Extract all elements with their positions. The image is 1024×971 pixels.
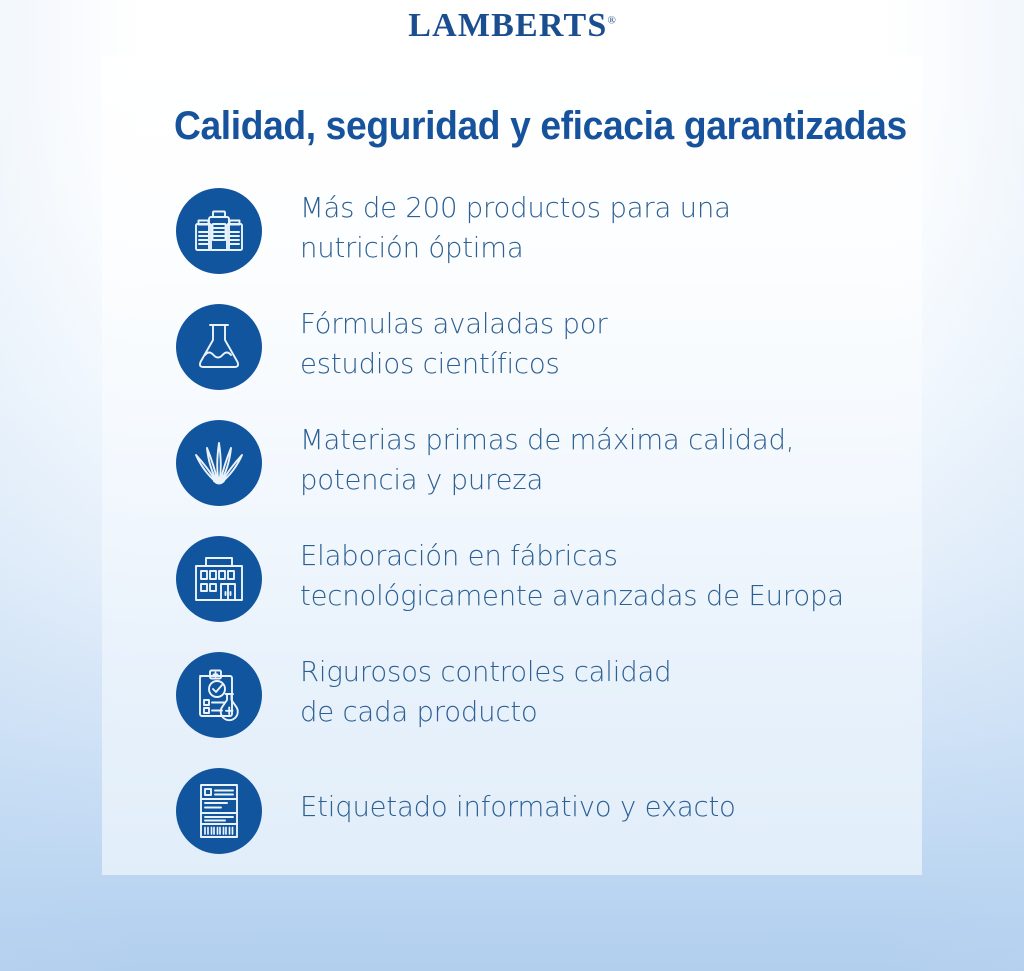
list-item-text: Fórmulas avaladas por estudios científic…: [262, 300, 936, 384]
list-item-text: Más de 200 productos para una nutrición …: [262, 184, 936, 268]
list-item-line-1: Fórmulas avaladas por: [300, 305, 936, 345]
list-item-line-1: Materias primas de máxima calidad,: [300, 421, 936, 461]
list-item-line-2: de cada producto: [300, 693, 936, 733]
list-item-text: Elaboración en fábricas tecnológicamente…: [262, 532, 936, 616]
infographic-canvas: LAMBERTS® Calidad, seguridad y eficacia …: [0, 0, 1024, 971]
list-item-line-2: tecnológicamente avanzadas de Europa: [300, 577, 936, 617]
list-item: Fórmulas avaladas por estudios científic…: [176, 300, 936, 416]
list-item-line-1: Rigurosos controles calidad: [300, 653, 936, 693]
list-item-line-1: Más de 200 productos para una: [300, 189, 936, 229]
product-label-barcode-icon: [176, 768, 262, 854]
list-item-text: Rigurosos controles calidad de cada prod…: [262, 648, 936, 732]
list-item: Materias primas de máxima calidad, poten…: [176, 416, 936, 532]
supplement-bottles-icon: [176, 188, 262, 274]
brand-name: LAMBERTS: [408, 7, 607, 44]
list-item: Más de 200 productos para una nutrición …: [176, 184, 936, 300]
list-item-line-2: nutrición óptima: [300, 229, 936, 269]
list-item-text: Materias primas de máxima calidad, poten…: [262, 416, 936, 500]
list-item: Rigurosos controles calidad de cada prod…: [176, 648, 936, 764]
list-item-line-1: Elaboración en fábricas: [300, 537, 936, 577]
registered-trademark-icon: ®: [607, 15, 615, 27]
erlenmeyer-flask-icon: [176, 304, 262, 390]
brand-logo-text: LAMBERTS®: [408, 9, 616, 43]
factory-building-icon: [176, 536, 262, 622]
list-item: Etiquetado informativo y exacto: [176, 764, 936, 880]
aloe-plant-icon: [176, 420, 262, 506]
list-item-line-2: estudios científicos: [300, 345, 936, 385]
feature-list: Más de 200 productos para una nutrición …: [176, 184, 936, 880]
brand-logo: LAMBERTS®: [0, 0, 1024, 52]
list-item-text: Etiquetado informativo y exacto: [262, 764, 936, 828]
page-title: Calidad, seguridad y eficacia garantizad…: [174, 104, 881, 148]
list-item-line-2: potencia y pureza: [300, 461, 936, 501]
list-item: Elaboración en fábricas tecnológicamente…: [176, 532, 936, 648]
list-item-line-1: Etiquetado informativo y exacto: [300, 788, 936, 828]
clipboard-checklist-flask-icon: [176, 652, 262, 738]
